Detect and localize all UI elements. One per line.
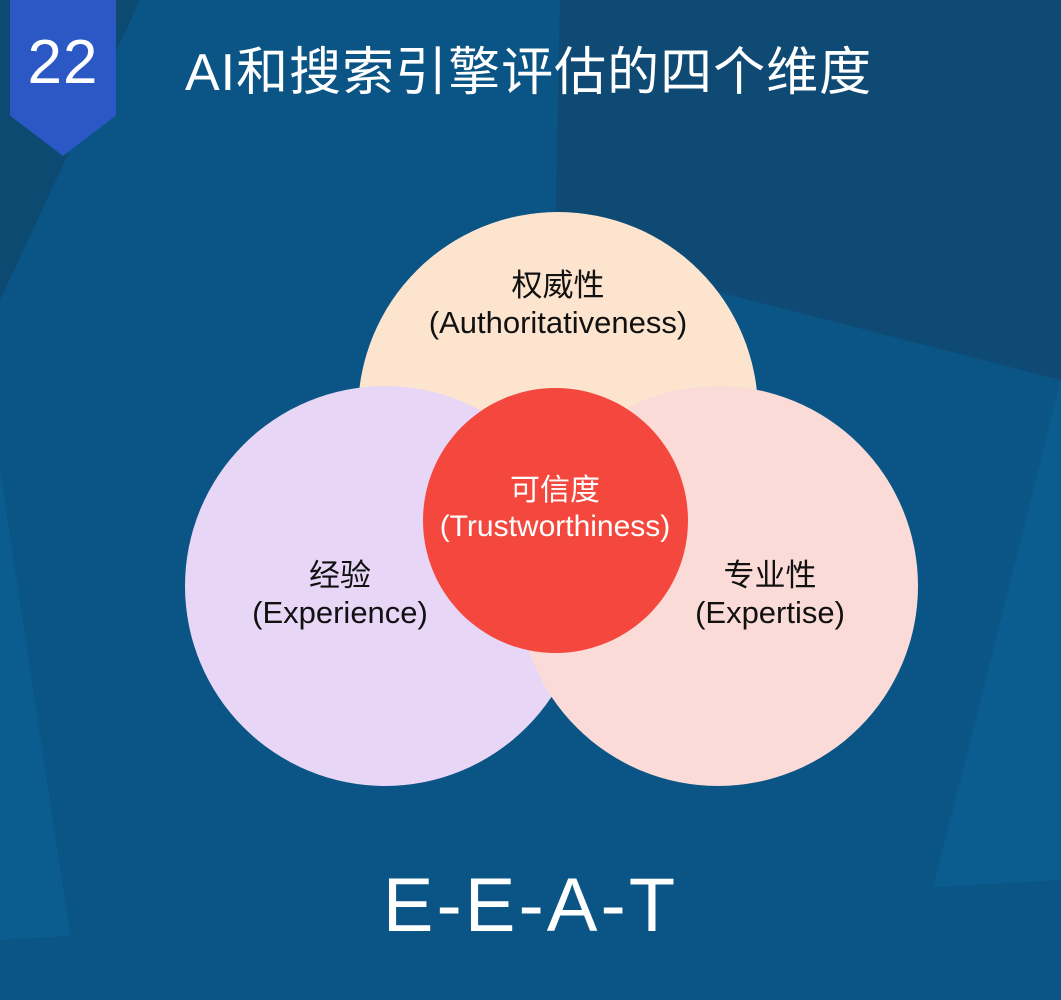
venn-diagram: 权威性 (Authoritativeness) 经验 (Experience) … xyxy=(0,0,1061,1000)
venn-label-authoritativeness-cn: 权威性 xyxy=(358,267,758,304)
venn-label-trustworthiness-en: (Trustworthiness) xyxy=(405,509,705,545)
page-number-text: 22 xyxy=(28,32,99,94)
venn-label-expertise-cn: 专业性 xyxy=(590,557,950,594)
venn-label-trustworthiness-cn: 可信度 xyxy=(405,473,705,509)
venn-label-authoritativeness-en: (Authoritativeness) xyxy=(358,304,758,341)
venn-label-experience-en: (Experience) xyxy=(160,594,520,631)
venn-label-experience: 经验 (Experience) xyxy=(160,557,520,631)
venn-label-authoritativeness: 权威性 (Authoritativeness) xyxy=(358,267,758,341)
page-title: AI和搜索引擎评估的四个维度 xyxy=(185,44,872,102)
venn-label-expertise-en: (Expertise) xyxy=(590,594,950,631)
venn-label-expertise: 专业性 (Expertise) xyxy=(590,557,950,631)
eeat-caption: E-E-A-T xyxy=(0,862,1061,949)
venn-label-trustworthiness: 可信度 (Trustworthiness) xyxy=(405,473,705,545)
slide-canvas: 22 AI和搜索引擎评估的四个维度 权威性 (Authoritativeness… xyxy=(0,0,1061,1000)
venn-label-experience-cn: 经验 xyxy=(160,557,520,594)
